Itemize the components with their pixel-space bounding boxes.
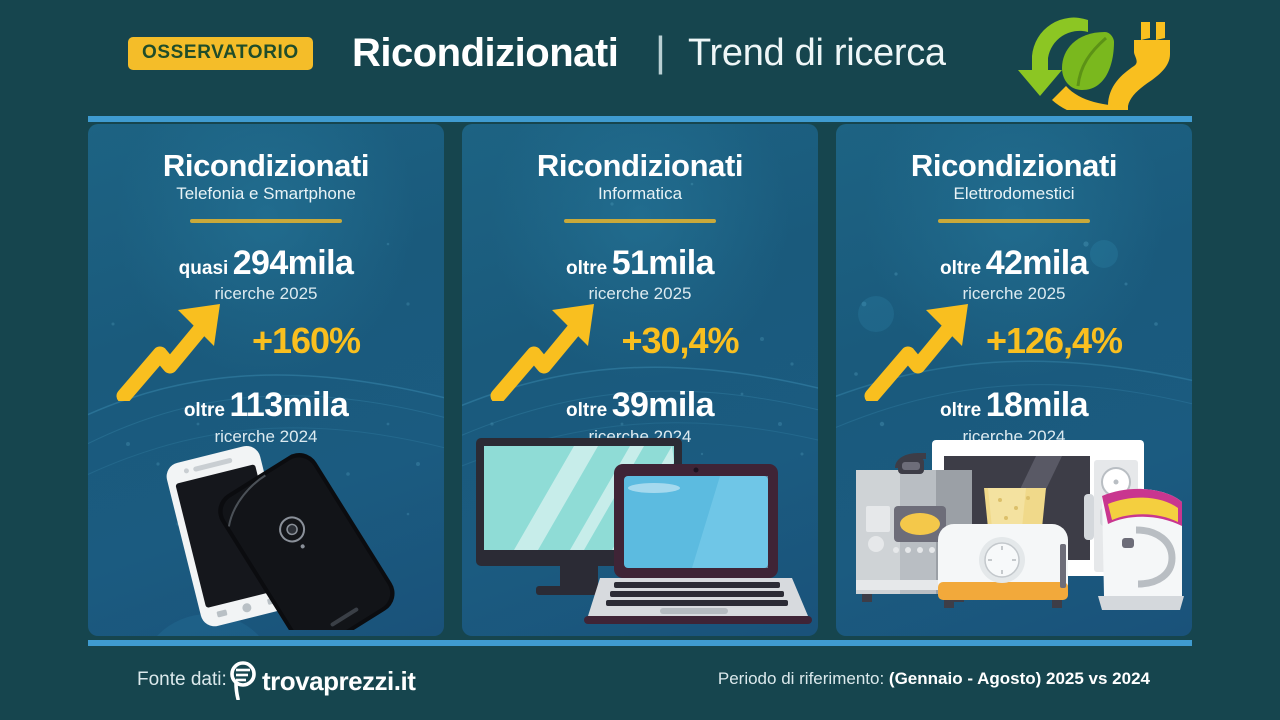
card-elettrodomestici[interactable]: Ricondizionati Elettrodomestici oltre 42… — [836, 124, 1192, 636]
card-title: Ricondizionati — [462, 148, 818, 184]
reference-period-label: Periodo di riferimento: — [718, 669, 884, 688]
title-separator: | — [655, 28, 666, 76]
stat-2024-prefix: oltre — [184, 400, 225, 421]
card-title: Ricondizionati — [836, 148, 1192, 184]
osservatorio-badge: OSSERVATORIO — [128, 37, 313, 70]
growth-percent: +30,4% — [462, 320, 818, 362]
stat-2024-value: 39mila — [612, 386, 714, 424]
stat-2024: oltre 113mila — [88, 386, 444, 425]
stat-2025: oltre 42mila — [836, 244, 1192, 283]
stat-2024: oltre 18mila — [836, 386, 1192, 425]
stat-2025: oltre 51mila — [462, 244, 818, 283]
card-telefonia-smartphone[interactable]: Ricondizionati Telefonia e Smartphone qu… — [88, 124, 444, 636]
recycle-leaf-plug-logo-icon — [1010, 8, 1170, 110]
growth-percent: +126,4% — [836, 320, 1192, 362]
cards-panel: Ricondizionati Telefonia e Smartphone qu… — [88, 116, 1192, 646]
source-label: Fonte dati: — [137, 669, 227, 691]
reference-period: Periodo di riferimento: (Gennaio - Agost… — [718, 669, 1150, 689]
stat-2024-prefix: oltre — [940, 400, 981, 421]
panel-top-accent-bar — [88, 116, 1192, 122]
page-header: OSSERVATORIO Ricondizionati | Trend di r… — [0, 0, 1280, 116]
card-divider-rule — [564, 219, 716, 223]
page-subtitle: Trend di ricerca — [688, 32, 946, 75]
stat-2024-prefix: oltre — [566, 400, 607, 421]
stat-2025-value: 42mila — [986, 244, 1088, 282]
stat-2024: oltre 39mila — [462, 386, 818, 425]
monitor-laptop-illustration — [462, 430, 818, 630]
card-title: Ricondizionati — [88, 148, 444, 184]
stat-2025-prefix: quasi — [179, 258, 229, 279]
reference-period-value: (Gennaio - Agosto) 2025 vs 2024 — [889, 669, 1150, 688]
card-subtitle: Informatica — [462, 184, 818, 204]
smartphones-illustration — [88, 430, 444, 630]
page-title: Ricondizionati — [352, 31, 618, 76]
stat-2025-value: 51mila — [612, 244, 714, 282]
stat-2024-value: 18mila — [986, 386, 1088, 424]
stat-2025-prefix: oltre — [940, 258, 981, 279]
trovaprezzi-magnifier-logo-icon — [224, 660, 258, 700]
stat-2025: quasi 294mila — [88, 244, 444, 283]
stat-2024-value: 113mila — [229, 386, 348, 424]
card-subtitle: Elettrodomestici — [836, 184, 1192, 204]
card-informatica[interactable]: Ricondizionati Informatica oltre 51mila … — [462, 124, 818, 636]
source-name: trovaprezzi.it — [262, 666, 415, 697]
home-appliances-illustration — [836, 430, 1192, 630]
cards-row: Ricondizionati Telefonia e Smartphone qu… — [88, 124, 1192, 636]
stat-2025-value: 294mila — [233, 244, 354, 282]
card-subtitle: Telefonia e Smartphone — [88, 184, 444, 204]
growth-percent: +160% — [88, 320, 444, 362]
card-divider-rule — [938, 219, 1090, 223]
card-divider-rule — [190, 219, 342, 223]
stat-2025-prefix: oltre — [566, 258, 607, 279]
